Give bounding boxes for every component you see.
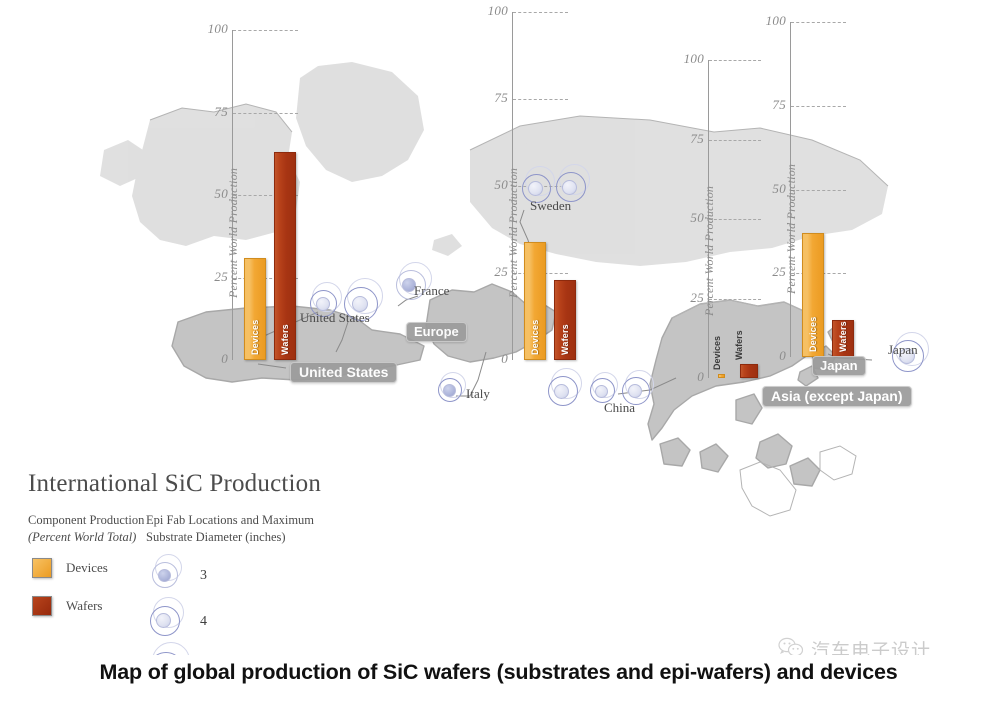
fab-core [628, 384, 642, 398]
legend-label-devices: Devices [66, 560, 108, 576]
legend-size-label-3: 3 [200, 568, 207, 584]
legend-label-wafers: Wafers [66, 598, 103, 614]
fab-core [562, 180, 577, 195]
legend-heading-component-line2: (Percent World Total) [28, 529, 158, 546]
axis-title-asia: Percent World Production [702, 186, 717, 316]
region-label-europe: Europe [406, 322, 467, 342]
tick-label: 75 [494, 90, 508, 106]
watermark-text: 汽车电子设计 [811, 636, 931, 655]
bar-label-wafers: Wafers [838, 321, 848, 352]
region-label-united-states: United States [290, 362, 397, 383]
wechat-icon [778, 636, 804, 655]
legend-size-4: 4 [150, 597, 220, 641]
bar-label-devices: Devices [530, 320, 540, 355]
fab-label-italy: Italy [466, 386, 490, 402]
fab-core [156, 613, 171, 628]
fab-label-sweden: Sweden [530, 198, 571, 214]
legend-title: International SiC Production [28, 470, 328, 498]
figure-canvas: 100 75 50 25 0 Percent World Production … [0, 0, 997, 655]
wafers-swatch-icon [32, 596, 52, 616]
region-label-asia-except-japan: Asia (except Japan) [762, 386, 912, 407]
bar-us-wafers: Wafers [274, 152, 296, 360]
tick-label: 100 [208, 21, 228, 37]
bar-label-devices: Devices [712, 336, 722, 370]
fab-label-china: China [604, 400, 635, 416]
fab-label-united-states: United States [300, 310, 370, 326]
fab-core [528, 181, 543, 196]
bar-label-wafers: Wafers [734, 330, 744, 360]
fab-core [443, 384, 456, 397]
bar-japan-devices: Devices [802, 233, 824, 357]
bar-us-devices: Devices [244, 258, 266, 360]
legend-column-component-production: Component Production (Percent World Tota… [28, 512, 158, 546]
watermark: 汽车电子设计 [778, 636, 931, 655]
legend-entry-wafers: Wafers [32, 596, 103, 616]
bar-label-devices: Devices [250, 320, 260, 355]
bar-asia-wafers [740, 364, 758, 378]
tick-label: 75 [690, 131, 704, 147]
tick-label: 100 [488, 3, 508, 19]
bar-label-wafers: Wafers [560, 324, 570, 355]
axis-title-us: Percent World Production [226, 168, 241, 298]
fab-label-japan: Japan [888, 342, 918, 358]
tick-label: 0 [697, 369, 704, 385]
legend-heading-fab: Epi Fab Locations and Maximum Substrate … [146, 512, 326, 546]
tick-label: 0 [221, 351, 228, 367]
fab-core [316, 297, 330, 311]
legend-columns: Component Production (Percent World Tota… [28, 512, 328, 655]
tick-label: 100 [684, 51, 704, 67]
tick-label: 75 [772, 97, 786, 113]
axis-title-europe: Percent World Production [506, 168, 521, 298]
tick-label: 75 [214, 104, 228, 120]
legend: International SiC Production Component P… [28, 470, 328, 655]
fab-marker-size-3 [152, 554, 192, 594]
fab-marker-size-4 [150, 597, 194, 641]
bar-group-japan: Devices Wafers [802, 22, 922, 357]
fab-core [554, 384, 569, 399]
legend-size-6: 6 [148, 642, 224, 655]
axis-title-japan: Percent World Production [784, 164, 799, 294]
legend-heading-component-line1: Component Production [28, 512, 158, 529]
bar-europe-devices: Devices [524, 242, 546, 360]
fab-marker-china-1[interactable] [548, 368, 588, 408]
figure-caption: Map of global production of SiC wafers (… [0, 660, 997, 685]
legend-size-3: 3 [152, 554, 222, 594]
bar-label-devices: Devices [808, 317, 818, 352]
legend-entry-devices: Devices [32, 558, 108, 578]
fab-marker-size-6 [148, 642, 198, 655]
chart-panel-japan: 100 75 50 25 0 Percent World Production … [790, 22, 940, 357]
tick-label: 0 [779, 348, 786, 364]
legend-heading-fab-line1: Epi Fab Locations and Maximum [146, 512, 326, 529]
fab-label-france: France [414, 283, 449, 299]
bar-japan-wafers: Wafers [832, 320, 854, 357]
tick-label: 0 [501, 351, 508, 367]
bar-europe-wafers: Wafers [554, 280, 576, 360]
devices-swatch-icon [32, 558, 52, 578]
legend-size-label-4: 4 [200, 614, 207, 630]
bar-label-wafers: Wafers [280, 324, 290, 355]
legend-heading-fab-line2: Substrate Diameter (inches) [146, 529, 326, 546]
fab-core [595, 385, 608, 398]
tick-label: 100 [766, 13, 786, 29]
bar-asia-devices [718, 374, 725, 378]
region-label-japan: Japan [812, 356, 866, 376]
fab-core [158, 569, 171, 582]
legend-column-epi-fab: Epi Fab Locations and Maximum Substrate … [146, 512, 326, 546]
legend-heading-component: Component Production (Percent World Tota… [28, 512, 158, 546]
